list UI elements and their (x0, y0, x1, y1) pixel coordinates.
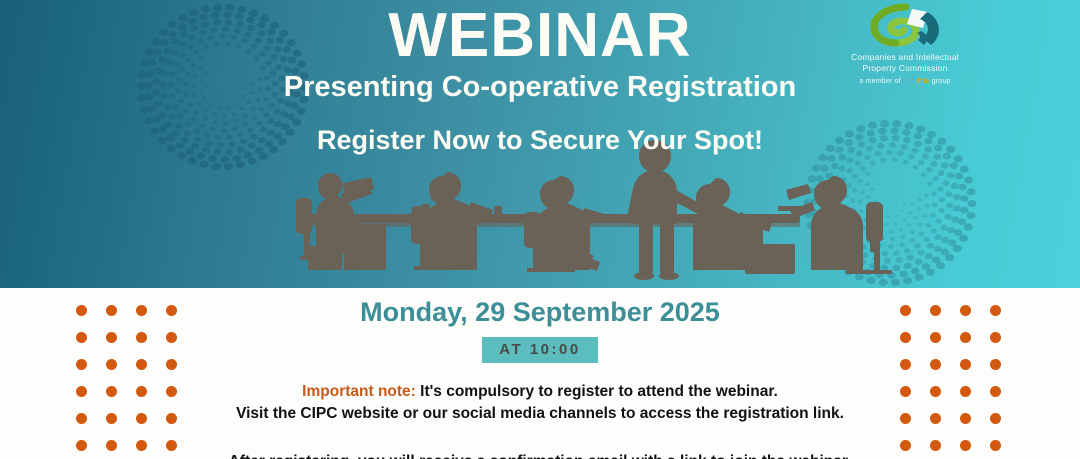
note-text: It's compulsory to register to attend th… (416, 383, 778, 400)
note-label: Important note: (302, 383, 416, 400)
cipc-logo-name-line-2: Property Commission (815, 63, 995, 74)
webinar-banner: WEBINAR Presenting Co-operative Registra… (0, 0, 1080, 459)
tagline-suffix: group (930, 78, 951, 85)
event-time-badge: AT 10:00 (482, 337, 597, 363)
cipc-logo-tagline: a member of the dtic group (815, 78, 995, 85)
event-date: Monday, 29 September 2025 (0, 296, 1080, 328)
tagline-brand-the: the (903, 78, 916, 85)
cipc-logo: Companies and Intellectual Property Comm… (815, 2, 995, 85)
cipc-logo-name-line-1: Companies and Intellectual (815, 52, 995, 63)
tagline-prefix: a member of (859, 78, 903, 85)
cipc-spiral-logo-icon (815, 2, 995, 50)
details-content: Monday, 29 September 2025 AT 10:00 Impor… (0, 288, 1080, 459)
note-line-1: Important note: It's compulsory to regis… (0, 381, 1080, 403)
hero-section: WEBINAR Presenting Co-operative Registra… (0, 0, 1080, 288)
confirmation-note: After registering, you will receive a co… (0, 451, 1080, 459)
cipc-logo-name: Companies and Intellectual Property Comm… (815, 52, 995, 74)
tagline-brand-dtic: dtic (916, 78, 929, 85)
note-line-2: Visit the CIPC website or our social med… (0, 403, 1080, 425)
meeting-table-silhouette-icon (0, 128, 1080, 288)
registration-note: Important note: It's compulsory to regis… (0, 381, 1080, 425)
